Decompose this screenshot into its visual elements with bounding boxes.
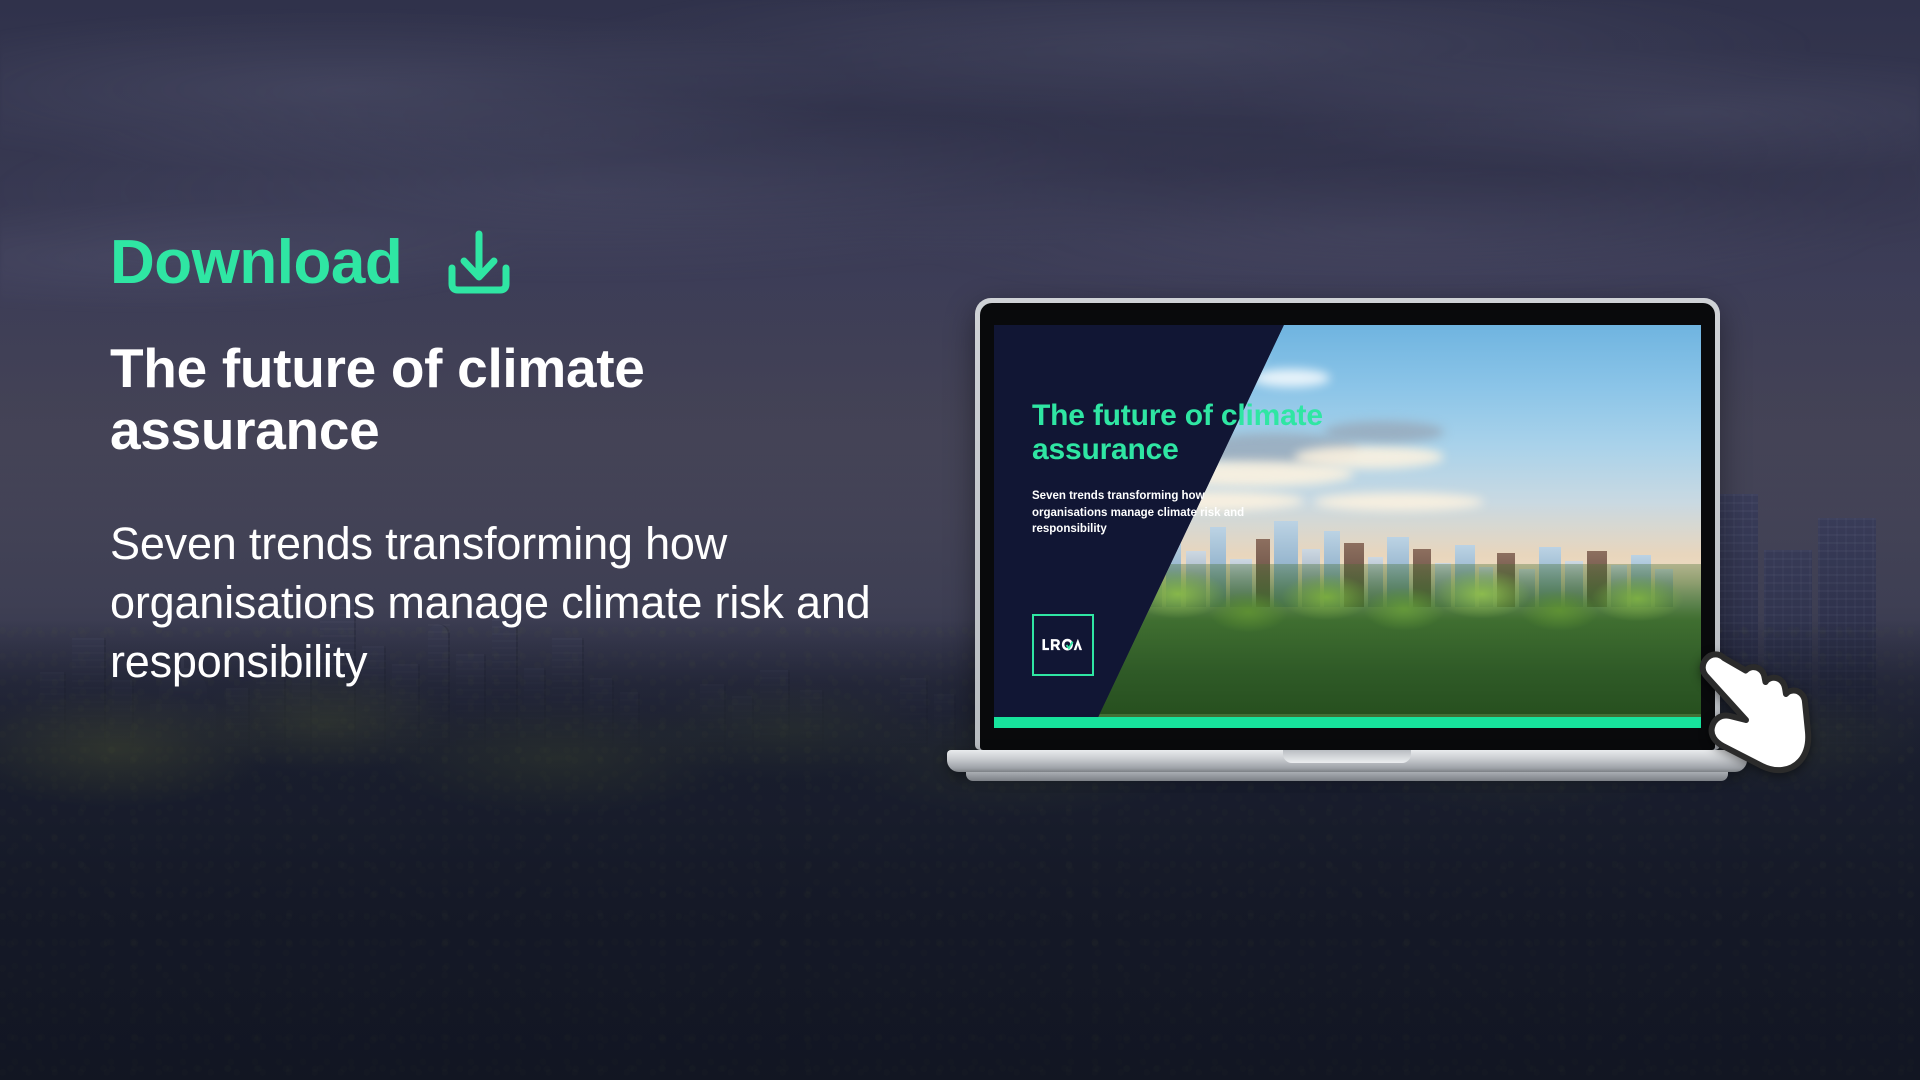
promo-banner: Download The future of climate assurance…	[0, 0, 1920, 1080]
page-title: The future of climate assurance	[110, 338, 750, 461]
screen-subtitle: Seven trends transforming how organisati…	[1032, 488, 1282, 537]
download-label[interactable]: Download	[110, 232, 402, 294]
download-arrow-icon[interactable]	[442, 230, 516, 296]
laptop-base	[947, 750, 1747, 781]
lrqa-logo	[1032, 614, 1094, 676]
promo-subcopy: Seven trends transforming how organisati…	[110, 515, 940, 692]
promo-copy: Download The future of climate assurance…	[110, 230, 940, 692]
lrqa-logo-mark	[1041, 636, 1085, 654]
download-cta[interactable]: Download	[110, 230, 940, 296]
laptop-bezel: The future of climate assurance Seven tr…	[980, 303, 1715, 750]
laptop-base-notch	[1283, 750, 1411, 763]
pointing-hand-cursor-icon	[1690, 640, 1822, 782]
laptop-mockup[interactable]: The future of climate assurance Seven tr…	[975, 298, 1720, 781]
screen-accent-bar	[994, 717, 1701, 728]
screen-text-block: The future of climate assurance Seven tr…	[1032, 399, 1362, 537]
screen-title: The future of climate assurance	[1032, 399, 1362, 466]
laptop-screen[interactable]: The future of climate assurance Seven tr…	[994, 325, 1701, 728]
laptop-lid: The future of climate assurance Seven tr…	[975, 298, 1720, 750]
